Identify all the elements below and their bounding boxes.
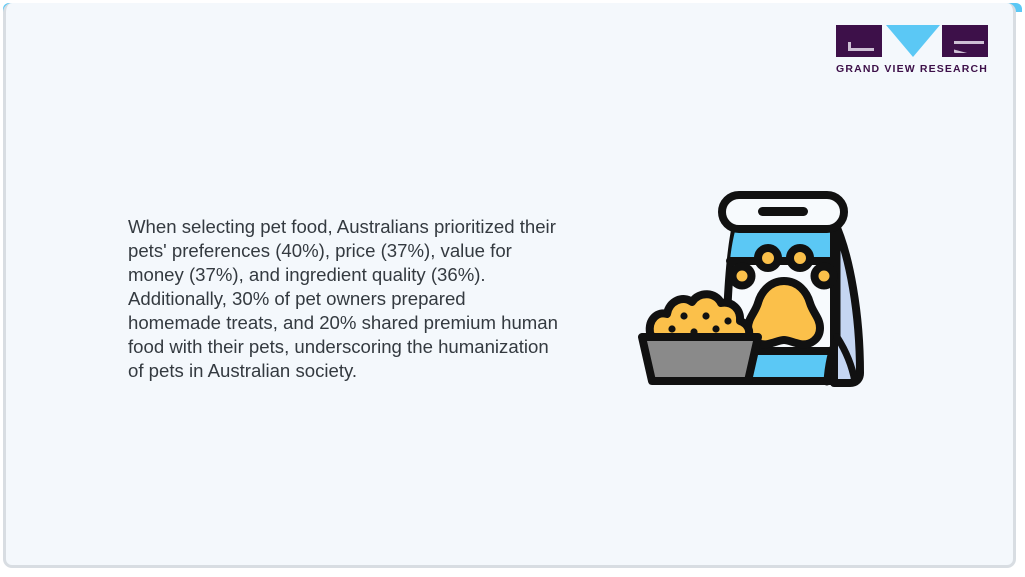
infographic-card: GRAND VIEW RESEARCH When selecting pet f… [3, 3, 1016, 568]
paw-toe-3 [733, 267, 752, 286]
kibble-dot-4 [680, 312, 687, 319]
kibble-dot-6 [724, 317, 731, 324]
bag-top-seal-grip [758, 207, 808, 216]
logo-mark [836, 25, 988, 57]
paw-toe-1 [758, 248, 778, 268]
bowl-body [642, 337, 758, 381]
logo-letter-r-notch-icon [954, 40, 984, 53]
food-bowl-group [642, 294, 758, 381]
logo-letter-v-triangle-icon [886, 25, 940, 57]
logo-wordmark: GRAND VIEW RESEARCH [836, 63, 988, 75]
kibble-dot-5 [702, 312, 709, 319]
brand-logo: GRAND VIEW RESEARCH [836, 25, 988, 81]
paw-toe-2 [790, 248, 810, 268]
logo-letter-g-icon [836, 25, 882, 57]
paw-toe-4 [815, 267, 834, 286]
pet-food-illustration [638, 185, 900, 407]
bag-top-band [730, 229, 839, 261]
insight-body-text: When selecting pet food, Australians pri… [128, 215, 560, 383]
kibble-dot-1 [668, 325, 675, 332]
kibble-dot-3 [712, 325, 719, 332]
logo-letter-g-notch-icon [848, 42, 874, 51]
